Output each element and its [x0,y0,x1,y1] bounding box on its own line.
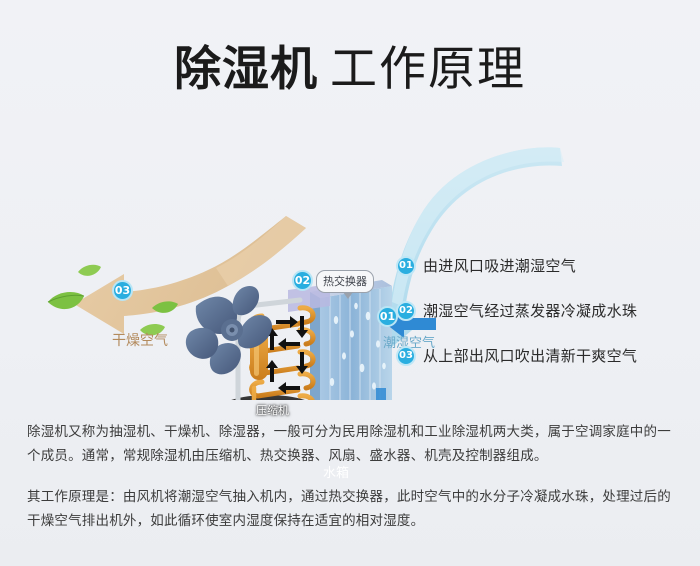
leaf-icon [78,265,101,276]
page-title: 除湿机工作原理 [0,30,700,99]
page-title-secondary: 工作原理 [330,42,526,97]
legend-badge-03: 03 [396,346,416,366]
legend-text-02: 潮湿空气经过蒸发器冷凝成水珠 [423,300,637,321]
heat-exchanger-callout: 热交换器 [316,270,374,293]
diagram-badge-03: 03 [112,280,133,301]
paragraph-1: 除湿机又称为抽湿机、干燥机、除湿器，一般可分为民用除湿机和工业除湿机两大类，属于… [27,420,677,468]
compressor-label: 压缩机 [256,402,289,418]
body-copy: 除湿机又称为抽湿机、干燥机、除湿器，一般可分为民用除湿机和工业除湿机两大类，属于… [27,420,677,533]
legend-badge-02: 02 [396,301,416,321]
diagram-badge-02: 02 [292,270,313,291]
dry-air-arrow [74,216,306,334]
dry-air-label: 干燥空气 [112,330,168,350]
diagram-badge-01: 01 [377,306,398,327]
legend-badge-01: 01 [396,256,416,276]
page-title-primary: 除湿机 [174,42,318,97]
legend-text-03: 从上部出风口吹出清新干爽空气 [423,345,637,366]
legend-text-01: 由进风口吸进潮湿空气 [423,255,576,276]
paragraph-2: 其工作原理是：由风机将潮湿空气抽入机内，通过热交换器，此时空气中的水分子冷凝成水… [27,485,677,533]
page-root: 除湿机工作原理 [0,0,700,566]
